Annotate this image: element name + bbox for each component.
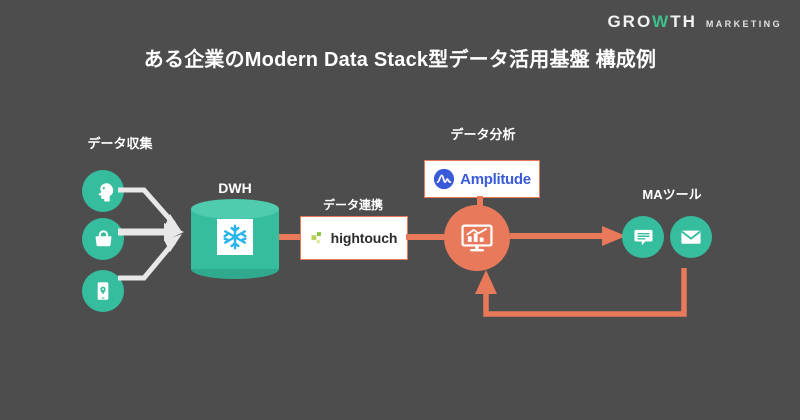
shopping-bag-icon (92, 228, 115, 251)
ma-tool-email[interactable] (670, 216, 712, 258)
amplitude-card[interactable]: Amplitude (424, 160, 540, 198)
brand-name: GROWTH (607, 13, 696, 30)
connector-hightouch-to-hub (406, 230, 448, 244)
envelope-icon (679, 225, 703, 249)
connector-hub-to-ma-tools (510, 225, 628, 247)
hightouch-card[interactable]: hightouch (300, 216, 408, 260)
amplitude-icon (433, 168, 455, 190)
mobile-location-icon (92, 280, 114, 302)
brand-name-accent: W (652, 12, 670, 31)
page-title: ある企業のModern Data Stack型データ活用基盤 構成例 (0, 43, 800, 72)
amplitude-label: Amplitude (460, 171, 531, 188)
caption-ma-tools: MAツール (608, 184, 736, 203)
hightouch-label: hightouch (331, 230, 398, 246)
brand-logo: GROWTH MARKETING (607, 13, 782, 30)
cylinder-top (191, 199, 279, 219)
brand-name-part2: TH (670, 12, 697, 31)
person-head-icon (91, 179, 115, 203)
caption-data-sync: データ連携 (300, 196, 406, 213)
analytics-hub-node[interactable] (444, 205, 510, 271)
caption-data-analysis: データ分析 (412, 124, 554, 143)
slide-canvas: GROWTH MARKETING ある企業のModern Data Stack型… (0, 0, 800, 420)
brand-subtitle: MARKETING (706, 20, 782, 29)
hightouch-squares-icon (311, 231, 326, 246)
monitor-chart-icon (460, 221, 494, 255)
caption-dwh: DWH (192, 180, 278, 196)
connector-feedback-loop (460, 268, 710, 324)
brand-name-part1: GRO (607, 12, 652, 31)
snowflake-logo (217, 219, 253, 255)
caption-data-collection: データ収集 (60, 133, 180, 152)
snowflake-icon (220, 222, 250, 252)
ma-tool-chat[interactable] (622, 216, 664, 258)
chat-bubble-icon (632, 226, 655, 249)
connector-sources-to-dwh (118, 168, 198, 296)
dwh-node[interactable] (191, 199, 279, 279)
